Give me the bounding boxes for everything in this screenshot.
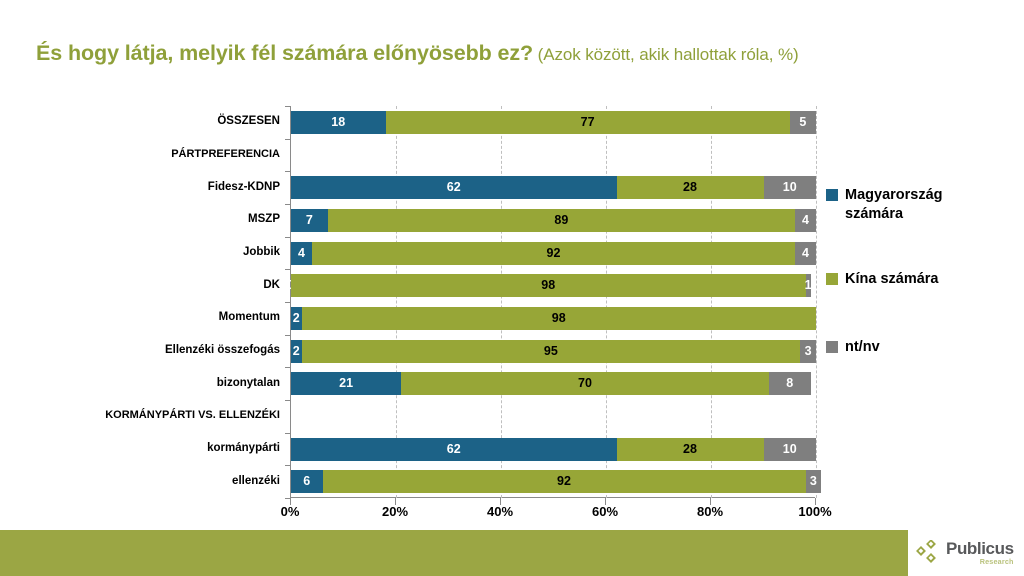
bar-row: 622810: [291, 176, 815, 199]
bar-value-label: 77: [581, 116, 595, 129]
bar-segment: 62: [291, 176, 617, 199]
bar-value-label: 3: [805, 345, 812, 358]
bar-row: 7894: [291, 209, 815, 232]
bar-row: 6923: [291, 470, 815, 493]
category-tick: [285, 433, 291, 434]
publicus-logo: Publicus Research: [908, 530, 1024, 576]
bar-value-label: 89: [554, 214, 568, 227]
bar-segment: 2: [291, 307, 302, 330]
category-label: ellenzéki: [52, 475, 280, 487]
bar-segment: 62: [291, 438, 617, 461]
bar-segment: 89: [328, 209, 795, 232]
bar-value-label: 8: [786, 377, 793, 390]
x-axis-label: 60%: [592, 504, 618, 519]
legend-kina[interactable]: Kína számára: [826, 270, 939, 289]
stacked-bar-chart: ÖSSZESENPÁRTPREFERENCIAFidesz-KDNPMSZPJo…: [0, 100, 1024, 520]
x-axis-label: 0%: [281, 504, 300, 519]
category-tick: [285, 269, 291, 270]
category-label: Jobbik: [52, 246, 280, 258]
legend-label: Magyarország számára: [845, 186, 943, 223]
bar-value-label: 6: [303, 475, 310, 488]
x-axis-label: 20%: [382, 504, 408, 519]
bar-value-label: 10: [783, 443, 797, 456]
x-axis-labels: 0%20%40%60%80%100%: [290, 504, 815, 526]
title-subtitle: (Azok között, akik hallottak róla, %): [533, 45, 798, 64]
bar-row: 622810: [291, 438, 815, 461]
x-axis-label: 100%: [798, 504, 831, 519]
category-label: ÖSSZESEN: [52, 115, 280, 127]
bar-value-label: 1: [805, 279, 812, 292]
bar-value-label: 2: [293, 312, 300, 325]
title-main: És hogy látja, melyik fél számára előnyö…: [36, 41, 533, 65]
bar-value-label: 70: [578, 377, 592, 390]
bar-segment: 7: [291, 209, 328, 232]
category-tick: [285, 237, 291, 238]
bar-value-label: 92: [557, 475, 571, 488]
bar-value-label: 10: [783, 181, 797, 194]
bar-segment: 3: [806, 470, 822, 493]
bar-segment: 70: [401, 372, 769, 395]
bar-value-label: 92: [547, 247, 561, 260]
bar-value-label: 2: [293, 345, 300, 358]
category-tick: [285, 465, 291, 466]
bar-row: 18775: [291, 111, 815, 134]
x-axis-label: 40%: [487, 504, 513, 519]
bar-value-label: 28: [683, 443, 697, 456]
bar-segment: 98: [302, 307, 817, 330]
bar-value-label: 5: [799, 116, 806, 129]
bar-segment: 28: [617, 176, 764, 199]
category-tick: [285, 302, 291, 303]
category-tick: [285, 171, 291, 172]
bar-segment: 4: [795, 242, 816, 265]
bar-segment: 77: [386, 111, 790, 134]
footer-bar: [0, 530, 1024, 576]
page-title: És hogy látja, melyik fél számára előnyö…: [36, 42, 996, 66]
category-label: MSZP: [52, 213, 280, 225]
category-tick: [285, 335, 291, 336]
bar-segment: 4: [795, 209, 816, 232]
bar-value-label: 4: [298, 247, 305, 260]
legend-ntnv[interactable]: nt/nv: [826, 338, 880, 357]
bar-segment: 95: [302, 340, 801, 363]
category-axis: ÖSSZESENPÁRTPREFERENCIAFidesz-KDNPMSZPJo…: [60, 106, 288, 498]
bar-segment: 21: [291, 372, 401, 395]
category-label: Momentum: [52, 311, 280, 323]
bar-segment: 92: [323, 470, 806, 493]
category-label: KORMÁNYPÁRTI VS. ELLENZÉKI: [52, 409, 280, 421]
category-label: DK: [52, 279, 280, 291]
legend-label: nt/nv: [845, 338, 880, 357]
bar-value-label: 7: [306, 214, 313, 227]
bar-value-label: 62: [447, 181, 461, 194]
bar-row: 21708: [291, 372, 815, 395]
legend-label: Kína számára: [845, 270, 939, 289]
slide-canvas: És hogy látja, melyik fél számára előnyö…: [0, 0, 1024, 576]
bar-segment: 8: [769, 372, 811, 395]
logo-subtitle: Research: [946, 558, 1014, 565]
bar-value-label: 4: [802, 214, 809, 227]
category-tick: [285, 400, 291, 401]
bar-value-label: 3: [810, 475, 817, 488]
category-tick: [285, 139, 291, 140]
bar-segment: 6: [291, 470, 323, 493]
logo-name: Publicus: [946, 540, 1014, 557]
x-axis-label: 80%: [697, 504, 723, 519]
bar-segment: 98: [291, 274, 806, 297]
bar-row: 2953: [291, 340, 815, 363]
bar-segment: 3: [800, 340, 816, 363]
bar-value-label: 18: [331, 116, 345, 129]
bar-segment: 5: [790, 111, 816, 134]
bar-segment: 92: [312, 242, 795, 265]
gridline: [816, 106, 817, 498]
bar-segment: 1: [806, 274, 811, 297]
bar-value-label: 98: [541, 279, 555, 292]
category-label: bizonytalan: [52, 377, 280, 389]
legend-swatch-icon: [826, 273, 838, 285]
diamond-logo-icon: [916, 540, 942, 566]
plot-area: 1877562281078944924098129829532170862281…: [290, 106, 815, 498]
category-label: kormánypárti: [52, 442, 280, 454]
category-tick: [285, 204, 291, 205]
category-label: Fidesz-KDNP: [52, 181, 280, 193]
bar-value-label: 4: [802, 247, 809, 260]
legend-swatch-icon: [826, 189, 838, 201]
bar-row: 0981: [291, 274, 815, 297]
category-tick: [285, 106, 291, 107]
category-tick: [285, 367, 291, 368]
category-label: PÁRTPREFERENCIA: [52, 148, 280, 160]
logo-wordmark: Publicus Research: [946, 540, 1014, 565]
bar-value-label: 21: [339, 377, 353, 390]
legend-magyarorszag[interactable]: Magyarország számára: [826, 186, 943, 223]
legend-swatch-icon: [826, 341, 838, 353]
category-label: Ellenzéki összefogás: [52, 344, 280, 356]
bar-value-label: 95: [544, 345, 558, 358]
bar-row: 4924: [291, 242, 815, 265]
bar-value-label: 28: [683, 181, 697, 194]
bar-row: 298: [291, 307, 815, 330]
bar-value-label: 98: [552, 312, 566, 325]
bar-segment: 4: [291, 242, 312, 265]
bar-segment: 2: [291, 340, 302, 363]
bar-segment: 10: [764, 176, 817, 199]
bar-segment: 28: [617, 438, 764, 461]
bar-segment: 10: [764, 438, 817, 461]
bar-segment: 18: [291, 111, 386, 134]
bar-value-label: 62: [447, 443, 461, 456]
